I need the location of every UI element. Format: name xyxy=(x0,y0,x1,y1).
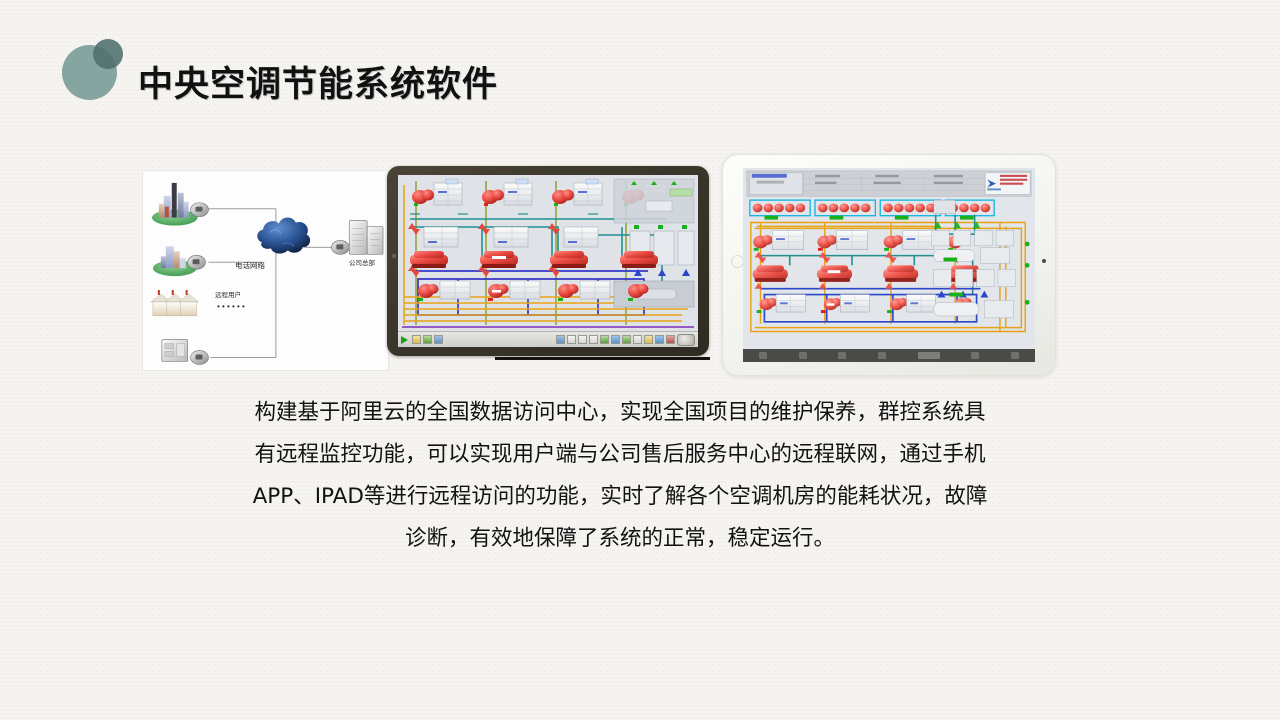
modem-icon-1 xyxy=(191,203,209,217)
modem-icon-hq xyxy=(331,240,349,254)
toolbar-icon-report[interactable] xyxy=(434,335,443,344)
toolbar-icon-gear-2[interactable] xyxy=(578,335,587,344)
android-tablet-device xyxy=(387,166,709,356)
network-topology-image: 电话网络 远程用户 公司总部 •••••• xyxy=(142,170,389,371)
page-title: 中央空调节能系统软件 xyxy=(138,56,498,107)
scada-screen-tablet-dark xyxy=(398,175,698,347)
topology-label-remote-users: 远程用户 xyxy=(215,289,241,299)
toolbar-logo-badge xyxy=(677,334,695,346)
paragraph-line-1: 构建基于阿里云的全国数据访问中心，实现全国项目的维护保养，群控系统具 xyxy=(196,392,1044,434)
paragraph-line-3: APP、IPAD等进行远程访问的功能，实时了解各个空调机房的能耗状况，故障 xyxy=(196,476,1044,518)
topology-label-headquarters: 公司总部 xyxy=(349,257,375,267)
media-row: 电话网络 远程用户 公司总部 •••••• xyxy=(0,148,1280,380)
toolbar-icon-filter[interactable] xyxy=(412,335,421,344)
data-boxes-row2 xyxy=(424,227,598,247)
tablet-shadow-edge xyxy=(495,357,710,360)
bottom-icon-gear[interactable] xyxy=(971,352,979,359)
bottom-icon-label[interactable] xyxy=(918,352,940,359)
bottom-icon-blank[interactable] xyxy=(799,352,807,359)
toolbar-icon-trend[interactable] xyxy=(423,335,432,344)
body-paragraph: 构建基于阿里云的全国数据访问中心，实现全国项目的维护保养，群控系统具 有远程监控… xyxy=(196,392,1044,560)
topology-continuation-dots: •••••• xyxy=(217,302,247,311)
bottom-icon-wrench[interactable] xyxy=(878,352,886,359)
modem-icon-2 xyxy=(188,255,206,269)
bottom-icon-close[interactable] xyxy=(759,352,767,359)
toolbar-icon-gear-1[interactable] xyxy=(567,335,576,344)
toolbar-icon-arrow-right[interactable] xyxy=(633,335,642,344)
bottom-icon-print[interactable] xyxy=(1011,352,1019,359)
bottom-icon-refresh[interactable] xyxy=(838,352,846,359)
scada-screen-ipad xyxy=(743,168,1035,362)
cloud-phone-network xyxy=(257,217,310,253)
toolbar-icon-folder[interactable] xyxy=(644,335,653,344)
city-buildings-site-1 xyxy=(152,183,198,226)
toolbar-icon-globe[interactable] xyxy=(600,335,609,344)
data-boxes-row3 xyxy=(440,281,610,299)
houses-site-3 xyxy=(151,290,199,316)
screen-header-bar xyxy=(747,171,1031,196)
toolbar-icon-updown[interactable] xyxy=(611,335,620,344)
overlapping-circles-logo xyxy=(60,35,132,107)
slide-header: 中央空调节能系统软件 xyxy=(0,0,1280,135)
paragraph-line-2: 有远程监控功能，可以实现用户端与公司售后服务中心的远程联网，通过手机 xyxy=(196,434,1044,476)
logo-circle-small xyxy=(93,39,123,69)
toolbar-icon-arrow-left[interactable] xyxy=(622,335,631,344)
topology-label-phone-network: 电话网络 xyxy=(235,260,265,271)
chiller-plant-schematic xyxy=(398,175,698,335)
toolbar-icon-save[interactable] xyxy=(655,335,664,344)
ipad-device xyxy=(722,154,1056,376)
topology-svg xyxy=(143,171,388,370)
scada-toolbar[interactable] xyxy=(398,331,698,347)
ipad-screen-bottom-bar[interactable] xyxy=(743,349,1035,362)
toolbar-icon-chart[interactable] xyxy=(556,335,565,344)
toolbar-icon-exit[interactable] xyxy=(666,335,675,344)
toolbar-icon-gear-3[interactable] xyxy=(589,335,598,344)
run-play-icon[interactable] xyxy=(401,336,408,344)
tablet-front-camera-icon xyxy=(392,254,396,258)
ipad-front-camera-icon xyxy=(1042,259,1046,263)
paragraph-line-4: 诊断，有效地保障了系统的正常，稳定运行。 xyxy=(196,518,1044,560)
modem-icon-4 xyxy=(191,351,209,365)
group-control-schematic xyxy=(743,168,1035,338)
server-site-4 xyxy=(162,340,188,362)
server-headquarters xyxy=(349,221,383,255)
